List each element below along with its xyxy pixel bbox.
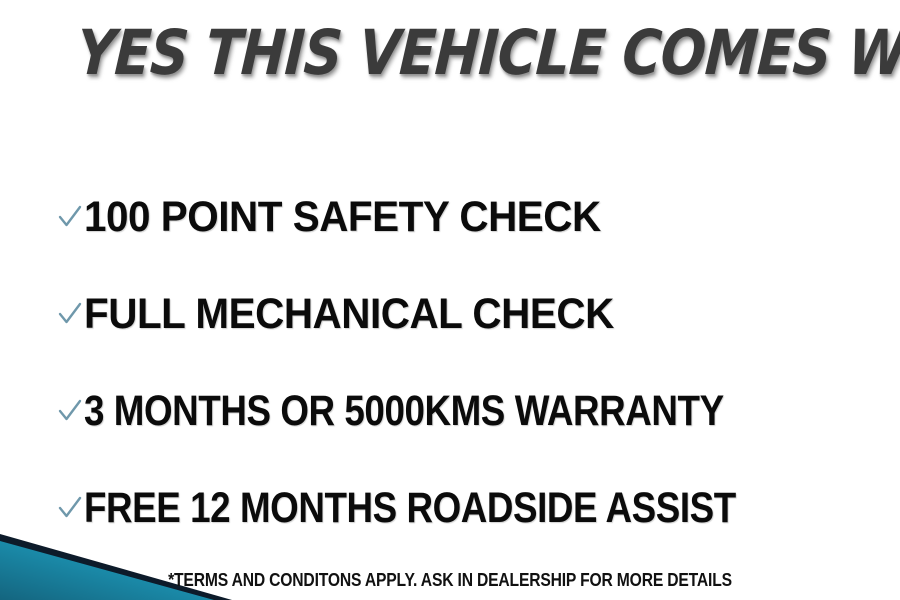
- check-icon: [58, 301, 82, 327]
- list-item: FREE 12 MONTHS ROADSIDE ASSIST: [58, 459, 858, 556]
- check-icon: [58, 398, 82, 424]
- feature-label: FREE 12 MONTHS ROADSIDE ASSIST: [84, 485, 736, 531]
- disclaimer-text: *TERMS AND CONDITONS APPLY. ASK IN DEALE…: [168, 570, 732, 590]
- list-item: FULL MECHANICAL CHECK: [58, 265, 858, 362]
- check-icon: [58, 204, 82, 230]
- promo-poster: YES THIS VEHICLE COMES WITH: 100 POINT S…: [0, 0, 900, 600]
- list-item: 3 MONTHS OR 5000KMS WARRANTY: [58, 362, 858, 459]
- disclaimer: *TERMS AND CONDITONS APPLY. ASK IN DEALE…: [0, 570, 900, 591]
- check-icon: [58, 495, 82, 521]
- headline: YES THIS VEHICLE COMES WITH:: [0, 18, 900, 88]
- headline-text: YES THIS VEHICLE COMES WITH:: [75, 18, 900, 88]
- feature-label: 100 POINT SAFETY CHECK: [84, 194, 601, 240]
- feature-list: 100 POINT SAFETY CHECK FULL MECHANICAL C…: [58, 168, 858, 556]
- feature-label: 3 MONTHS OR 5000KMS WARRANTY: [84, 388, 724, 434]
- list-item: 100 POINT SAFETY CHECK: [58, 168, 858, 265]
- feature-label: FULL MECHANICAL CHECK: [84, 291, 614, 337]
